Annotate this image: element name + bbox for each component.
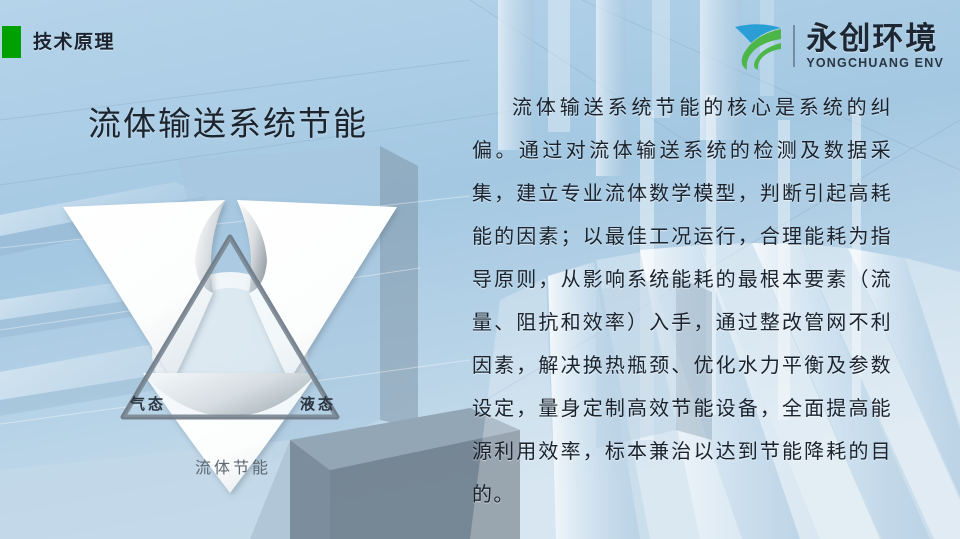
diagram-label-liquid: 液态 <box>273 393 363 414</box>
slide-root: 技术原理 永创环境 YONGCHUANG ENV 流体输送系统节能 <box>0 0 960 539</box>
body-paragraph: 流体输送系统节能的核心是系统的纠偏。通过对流体输送系统的检测及数据采集，建立专业… <box>472 86 892 516</box>
section-marker-square <box>2 26 21 58</box>
logo-name-en: YONGCHUANG ENV <box>806 56 944 71</box>
page-title: 流体输送系统节能 <box>88 102 368 146</box>
leaf-swoosh-icon <box>731 21 787 71</box>
fluid-energy-diagram: 气态 液态 气液 混合 流体节能 <box>45 175 415 505</box>
company-logo: 永创环境 YONGCHUANG ENV <box>731 20 944 72</box>
logo-divider <box>793 25 795 67</box>
section-title: 技术原理 <box>33 30 115 56</box>
diagram-center-label: 流体节能 <box>158 454 308 478</box>
logo-name-cn: 永创环境 <box>806 22 944 55</box>
diagram-label-gas: 气态 <box>103 393 193 414</box>
